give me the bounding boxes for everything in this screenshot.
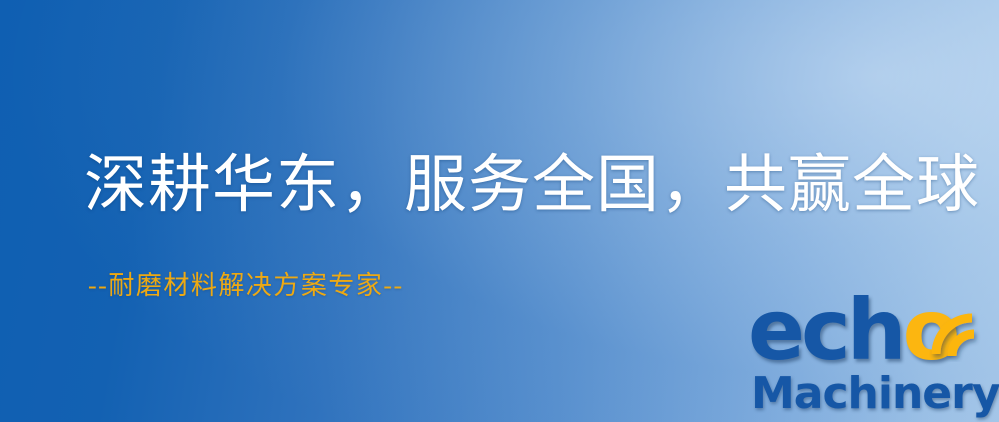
- echo-machinery-logo: echo Machinery®: [748, 292, 999, 422]
- logo-subword: Machinery®: [751, 368, 999, 416]
- banner-subtitle: --耐磨材料解决方案专家--: [88, 265, 404, 302]
- logo-subword-text: Machinery: [751, 368, 999, 419]
- logo-wordmark: echo: [748, 288, 956, 372]
- promo-banner: 深耕华东，服务全国，共赢全球 --耐磨材料解决方案专家-- echo Machi…: [0, 0, 999, 422]
- logo-wordmark-blue-text: ech: [748, 281, 903, 379]
- banner-headline: 深耕华东，服务全国，共赢全球: [84, 152, 980, 218]
- signal-waves-icon: [928, 290, 999, 362]
